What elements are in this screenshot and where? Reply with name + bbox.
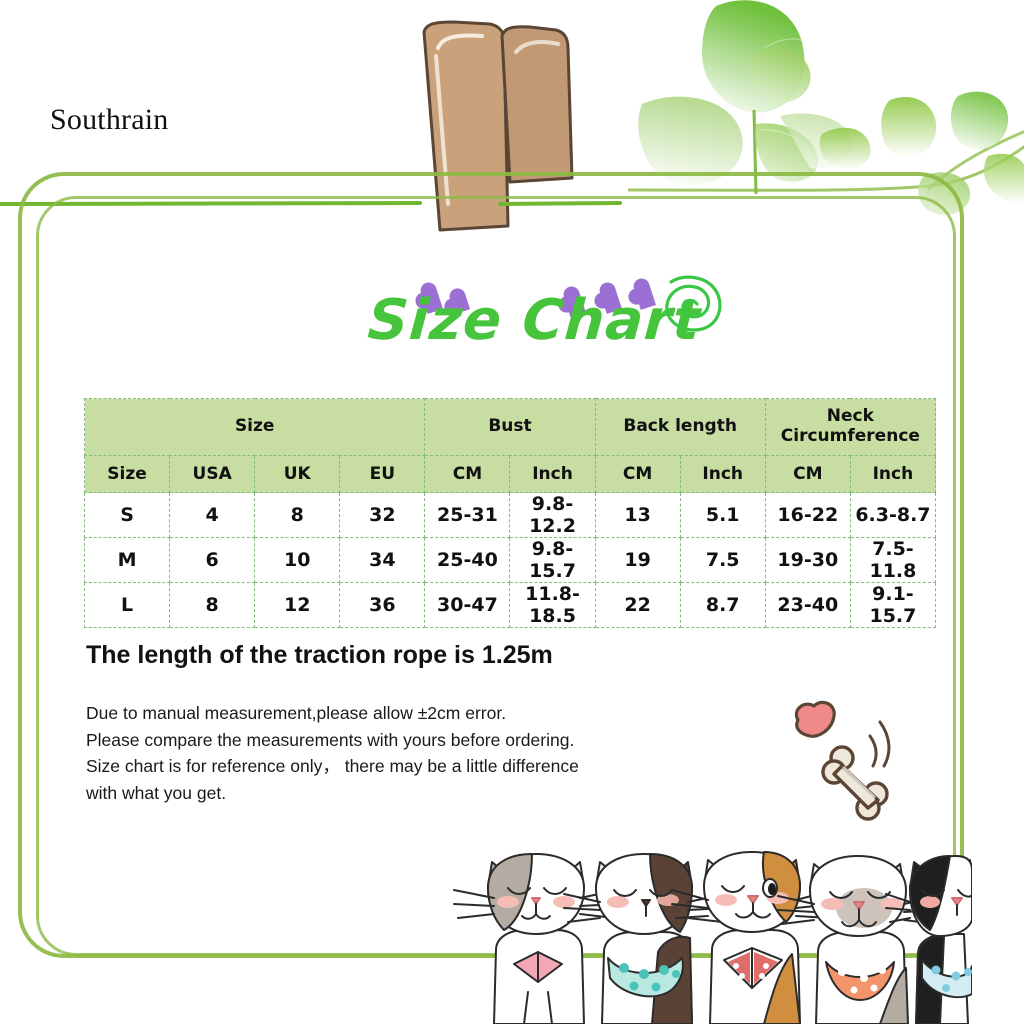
sub-header-uk: UK — [255, 456, 340, 493]
cell-neck-inch: 7.5-11.8 — [850, 538, 935, 583]
cell-usa: 8 — [170, 583, 255, 628]
cell-usa: 4 — [170, 493, 255, 538]
traction-rope-note: The length of the traction rope is 1.25m — [86, 641, 553, 670]
size-chart-table: Size Bust Back length Neck Circumference… — [84, 398, 936, 628]
sub-header-neck-inch: Inch — [850, 456, 935, 493]
cell-usa: 6 — [170, 538, 255, 583]
cell-neck-cm: 23-40 — [765, 583, 850, 628]
sub-header-usa: USA — [170, 456, 255, 493]
group-header-bust: Bust — [425, 399, 595, 456]
cell-neck-cm: 19-30 — [765, 538, 850, 583]
cell-bust-cm: 25-31 — [425, 493, 510, 538]
cell-neck-inch: 9.1-15.7 — [850, 583, 935, 628]
page-title: Size Chart — [366, 288, 703, 353]
cell-bust-cm: 30-47 — [425, 583, 510, 628]
cell-bust-cm: 25-40 — [425, 538, 510, 583]
sub-header-back-inch: Inch — [680, 456, 765, 493]
cell-bust-inch: 9.8-12.2 — [510, 493, 595, 538]
table-sub-header-row: Size USA UK EU CM Inch CM Inch CM Inch — [85, 456, 936, 493]
table-row: M 6 10 34 25-40 9.8-15.7 19 7.5 19-30 7.… — [85, 538, 936, 583]
cell-neck-cm: 16-22 — [765, 493, 850, 538]
measurement-notes: Due to manual measurement,please allow ±… — [86, 700, 726, 806]
cell-size: S — [85, 493, 170, 538]
table-row: S 4 8 32 25-31 9.8-12.2 13 5.1 16-22 6.3… — [85, 493, 936, 538]
cell-eu: 34 — [340, 538, 425, 583]
cell-uk: 12 — [255, 583, 340, 628]
cell-eu: 32 — [340, 493, 425, 538]
size-chart-title-block: Size Chart — [360, 272, 740, 372]
cell-back-inch: 8.7 — [680, 583, 765, 628]
group-header-back-length: Back length — [595, 399, 765, 456]
group-header-size: Size — [85, 399, 425, 456]
green-spiral-swirl — [657, 274, 725, 339]
group-header-neck-circumference: Neck Circumference — [765, 399, 935, 456]
sub-header-bust-cm: CM — [425, 456, 510, 493]
cell-uk: 8 — [255, 493, 340, 538]
cell-uk: 10 — [255, 538, 340, 583]
note-line-4: with what you get. — [86, 780, 726, 807]
cell-eu: 36 — [340, 583, 425, 628]
cell-neck-inch: 6.3-8.7 — [850, 493, 935, 538]
sub-header-neck-cm: CM — [765, 456, 850, 493]
cell-back-cm: 13 — [595, 493, 680, 538]
note-line-2: Please compare the measurements with you… — [86, 727, 726, 754]
sub-header-back-cm: CM — [595, 456, 680, 493]
cell-back-cm: 22 — [595, 583, 680, 628]
note-line-3: Size chart is for reference only， there … — [86, 753, 726, 780]
sub-header-bust-inch: Inch — [510, 456, 595, 493]
cell-bust-inch: 9.8-15.7 — [510, 538, 595, 583]
cell-size: L — [85, 583, 170, 628]
table-header: Size Bust Back length Neck Circumference… — [85, 399, 936, 493]
brand-name: Southrain — [50, 103, 168, 137]
cell-back-inch: 5.1 — [680, 493, 765, 538]
cell-back-inch: 7.5 — [680, 538, 765, 583]
note-line-1: Due to manual measurement,please allow ±… — [86, 700, 726, 727]
table-body: S 4 8 32 25-31 9.8-12.2 13 5.1 16-22 6.3… — [85, 493, 936, 628]
sub-header-size: Size — [85, 456, 170, 493]
table-group-header-row: Size Bust Back length Neck Circumference — [85, 399, 936, 456]
cell-back-cm: 19 — [595, 538, 680, 583]
sub-header-eu: EU — [340, 456, 425, 493]
table-row: L 8 12 36 30-47 11.8-18.5 22 8.7 23-40 9… — [85, 583, 936, 628]
cell-bust-inch: 11.8-18.5 — [510, 583, 595, 628]
cell-size: M — [85, 538, 170, 583]
